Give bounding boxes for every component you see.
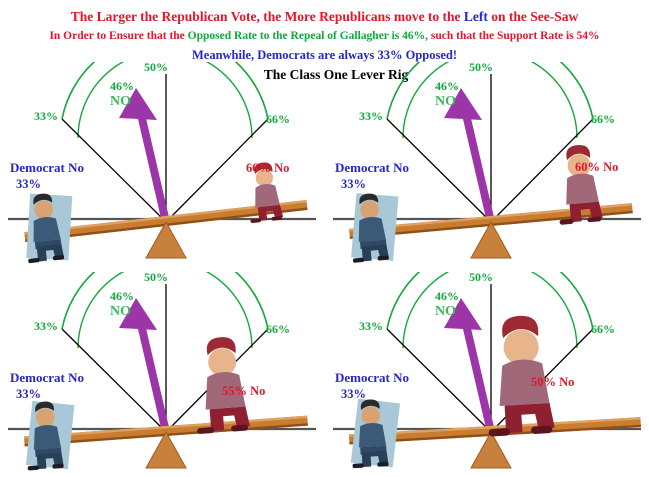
gauge-group-2 (387, 62, 593, 222)
republican-label: 55% No (222, 384, 265, 399)
democrat-label: Democrat No (335, 160, 409, 176)
gauge-label-46: 46% (110, 289, 134, 304)
democrat-figure (345, 189, 404, 264)
democrat-figure (21, 398, 79, 472)
gauge-group-4 (387, 272, 593, 432)
title-line-1: The Larger the Republican Vote, the More… (0, 9, 649, 25)
gauge-label-50: 50% (144, 60, 168, 75)
gauge-label-33: 33% (359, 109, 383, 124)
democrat-value: 33% (341, 387, 366, 402)
gauge-label-50: 50% (469, 60, 493, 75)
democrat-figure (347, 396, 404, 470)
republican-label: 50% No (531, 375, 574, 390)
gauge-label-46: 46% (435, 79, 459, 94)
democrat-value: 33% (16, 177, 41, 192)
title-run: In Order to Ensure that the (49, 30, 187, 42)
title-run: Left (464, 9, 488, 24)
title-run: The Larger the Republican Vote, the More… (71, 9, 464, 24)
infographic-canvas: The Larger the Republican Vote, the More… (0, 0, 649, 473)
gauge-label-33: 33% (359, 319, 383, 334)
gauge-label-66: 66% (591, 112, 615, 127)
seesaw-panel-3: 50% 46% NO 33% 66% Democrat No 33% 55% N… (0, 272, 324, 477)
gauge-label-46: 46% (110, 79, 134, 94)
fulcrum (471, 222, 511, 258)
gauge-label-no: NO (110, 304, 131, 320)
republican-label: 66% No (246, 161, 289, 176)
gauge-label-33: 33% (34, 109, 58, 124)
seesaw-panel-4: 50% 46% NO 33% 66% Democrat No 33% 50% N… (325, 272, 649, 477)
title-line-2: In Order to Ensure that the Opposed Rate… (0, 30, 649, 42)
gauge-label-50: 50% (469, 270, 493, 285)
title-run: such that the Support Rate is 54% (428, 30, 600, 42)
gauge-label-66: 66% (266, 322, 290, 337)
gauge-label-50: 50% (144, 270, 168, 285)
gauge-label-no: NO (435, 94, 456, 110)
gauge-label-66: 66% (266, 112, 290, 127)
seesaw-panel-1: 50% 46% NO 33% 66% Democrat No 33% 66% N… (0, 62, 324, 267)
gauge-label-66: 66% (591, 322, 615, 337)
democrat-label: Democrat No (335, 370, 409, 386)
democrat-value: 33% (341, 177, 366, 192)
democrat-value: 33% (16, 387, 41, 402)
gauge-label-46: 46% (435, 289, 459, 304)
democrat-label: Democrat No (10, 160, 84, 176)
title-run: on the See-Saw (488, 9, 578, 24)
fulcrum (146, 432, 186, 468)
democrat-label: Democrat No (10, 370, 84, 386)
title-line-3: Meanwhile, Democrats are always 33% Oppo… (0, 48, 649, 63)
gauge-label-33: 33% (34, 319, 58, 334)
seesaw-panel-2: 50% 46% NO 33% 66% Democrat No 33% 60% N… (325, 62, 649, 267)
fulcrum (471, 432, 511, 468)
gauge-label-no: NO (435, 304, 456, 320)
gauge-label-no: NO (110, 94, 131, 110)
title-run: Meanwhile, Democrats are always 33% Oppo… (192, 48, 457, 62)
gauge-group-1 (62, 62, 268, 222)
republican-label: 60% No (575, 160, 618, 175)
title-run: Opposed Rate to the Repeal of Gallagher … (188, 30, 428, 42)
